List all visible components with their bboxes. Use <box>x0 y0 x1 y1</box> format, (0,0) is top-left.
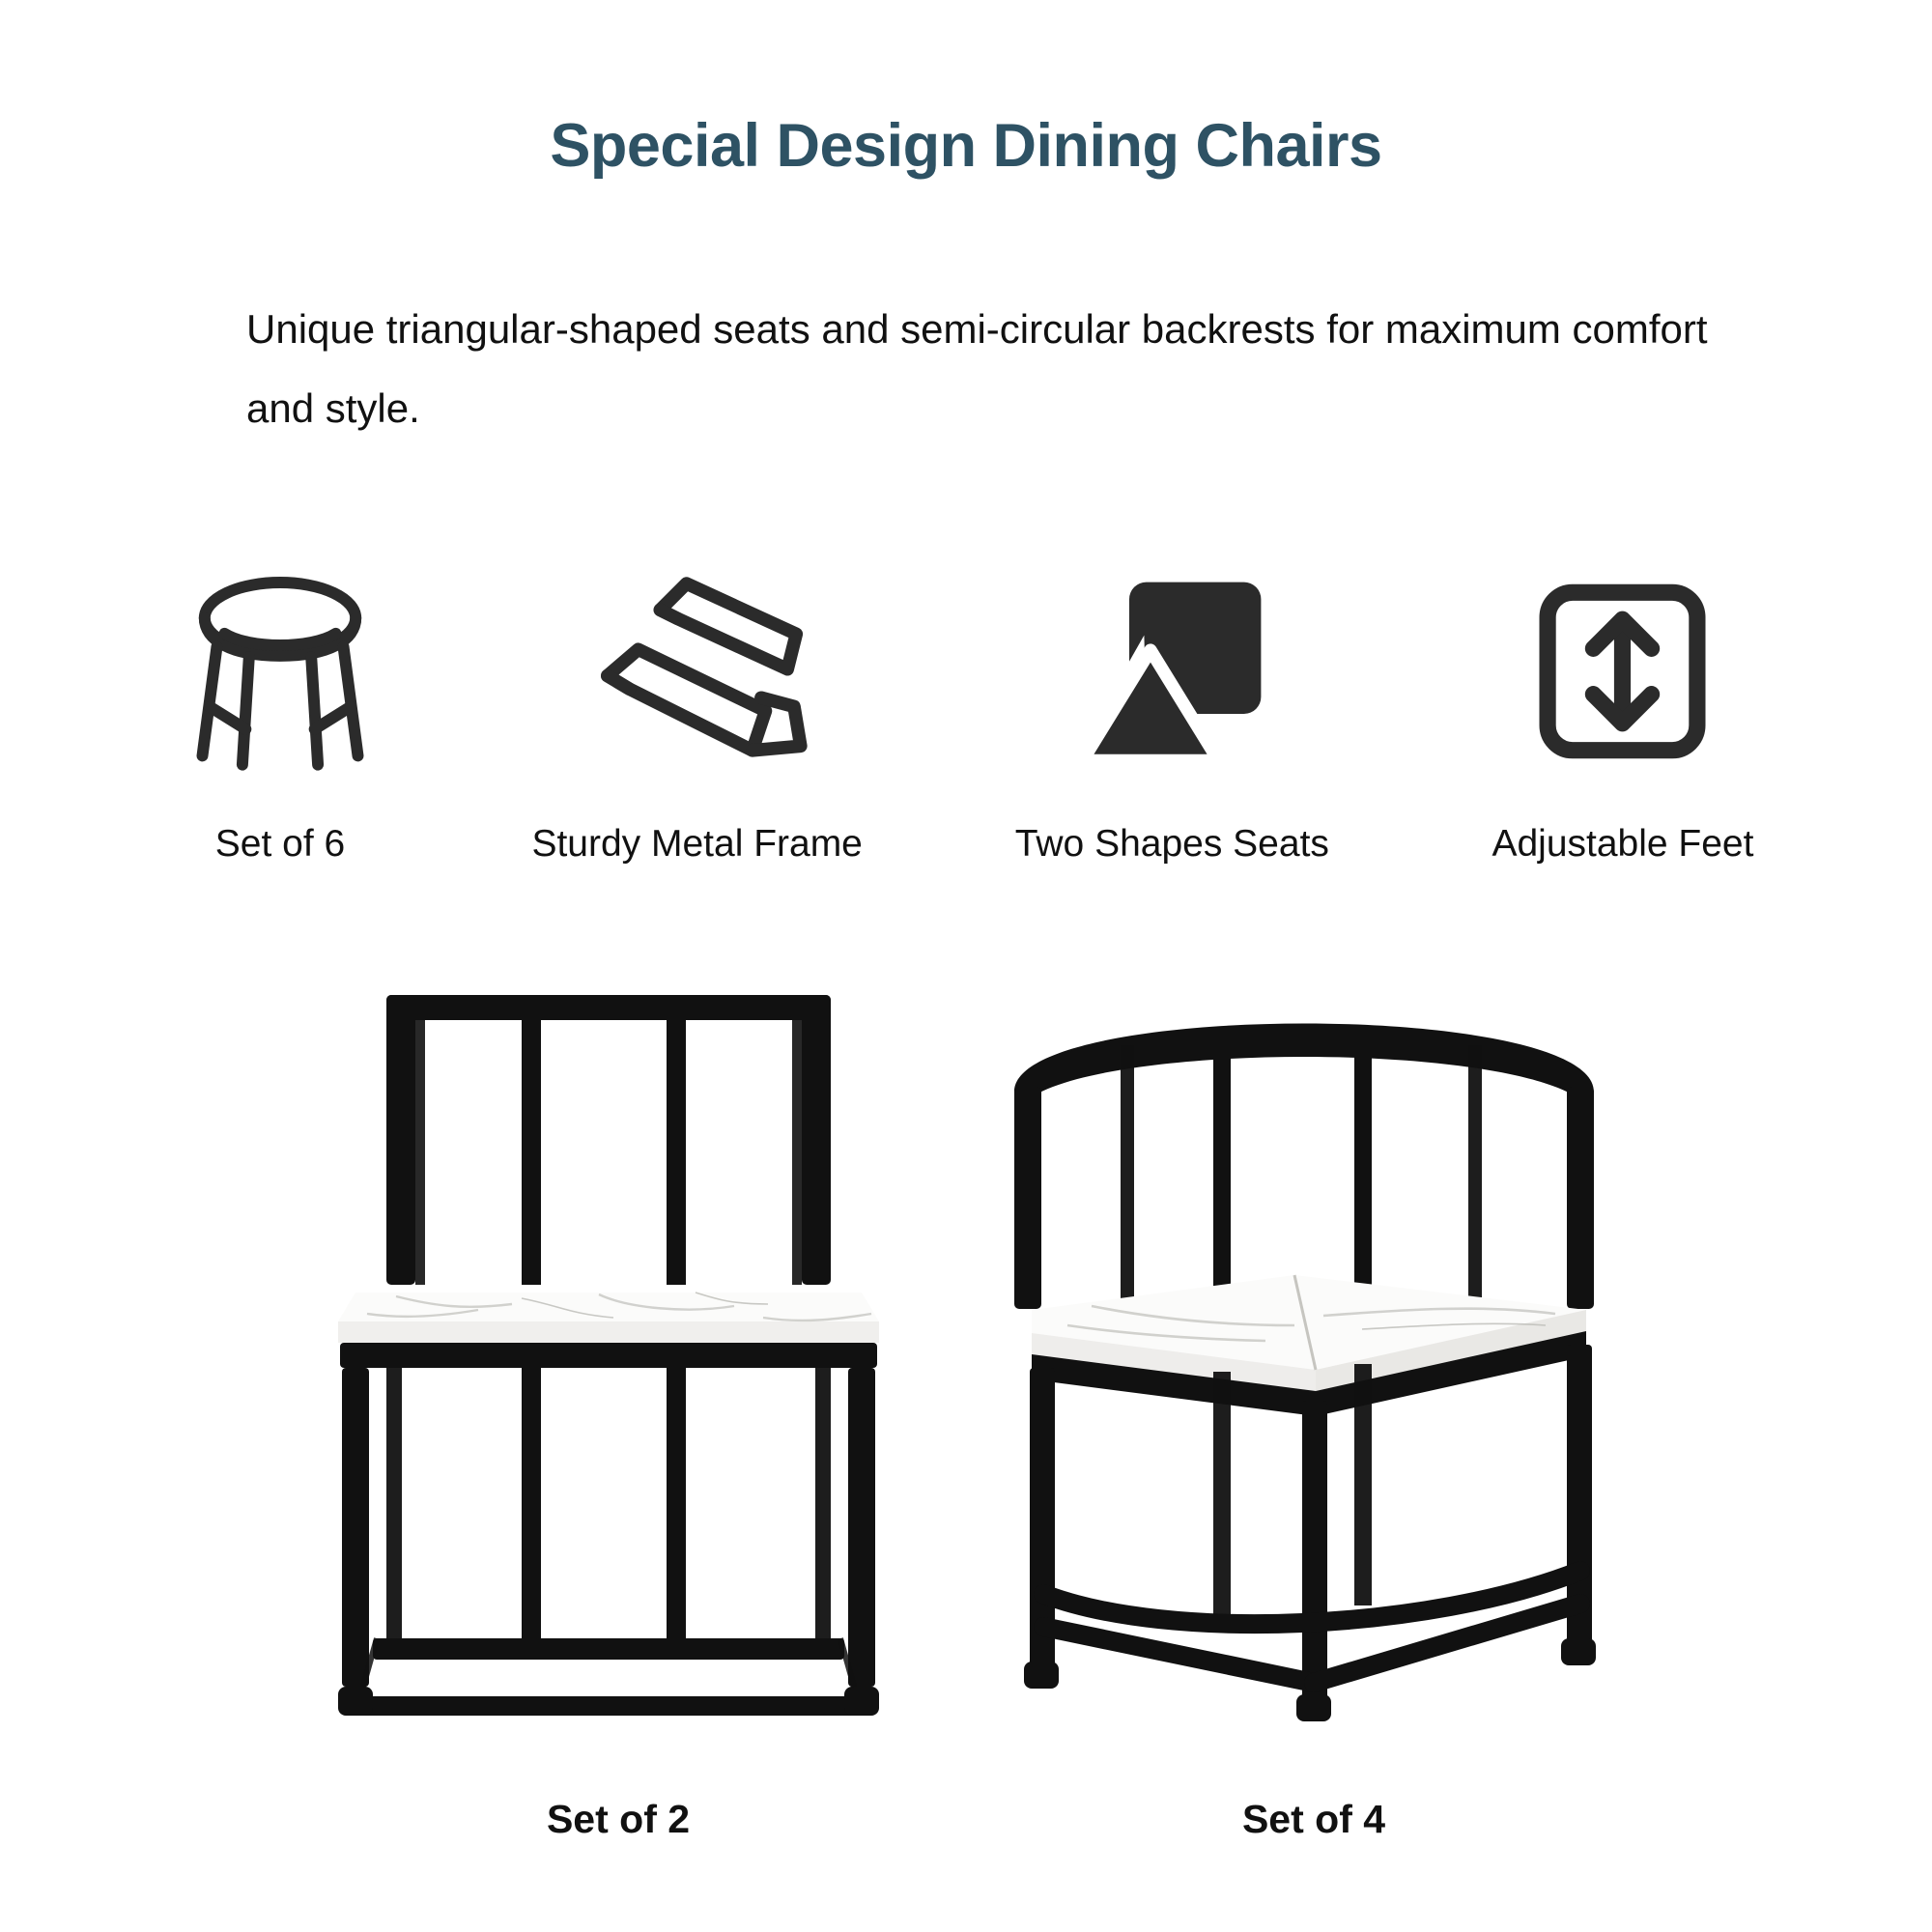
feature-item-two-shapes: Two Shapes Seats <box>969 541 1375 866</box>
feature-label: Sturdy Metal Frame <box>531 823 862 866</box>
feature-label: Set of 6 <box>215 823 345 866</box>
feature-item-metal-frame: Sturdy Metal Frame <box>480 541 915 866</box>
product-curved-back-chair: Set of 4 <box>976 985 1652 1932</box>
adjustable-feet-icon <box>1519 541 1726 782</box>
infographic-page: Special Design Dining Chairs Unique tria… <box>0 0 1932 1932</box>
two-shapes-icon <box>1065 541 1278 782</box>
marble-seat <box>338 1293 879 1343</box>
product-square-back-chair: Set of 2 <box>280 985 956 1932</box>
feature-label: Two Shapes Seats <box>1015 823 1329 866</box>
feature-label: Adjustable Feet <box>1492 823 1753 866</box>
feature-item-adjustable-feet: Adjustable Feet <box>1430 541 1816 866</box>
square-back-chair-illustration <box>280 985 956 1758</box>
metal-ingots-icon <box>577 541 818 782</box>
feature-list: Set of 6 Sturdy Meta <box>135 541 1816 866</box>
page-subtitle: Unique triangular-shaped seats and semi-… <box>246 290 1734 448</box>
feature-item-set-of-6: Set of 6 <box>135 541 425 866</box>
product-caption: Set of 4 <box>976 1797 1652 1842</box>
curved-back-chair-illustration <box>976 985 1652 1758</box>
page-title: Special Design Dining Chairs <box>0 114 1932 178</box>
product-gallery: Set of 2 <box>0 985 1932 1932</box>
product-caption: Set of 2 <box>280 1797 956 1842</box>
stool-icon <box>169 541 391 782</box>
